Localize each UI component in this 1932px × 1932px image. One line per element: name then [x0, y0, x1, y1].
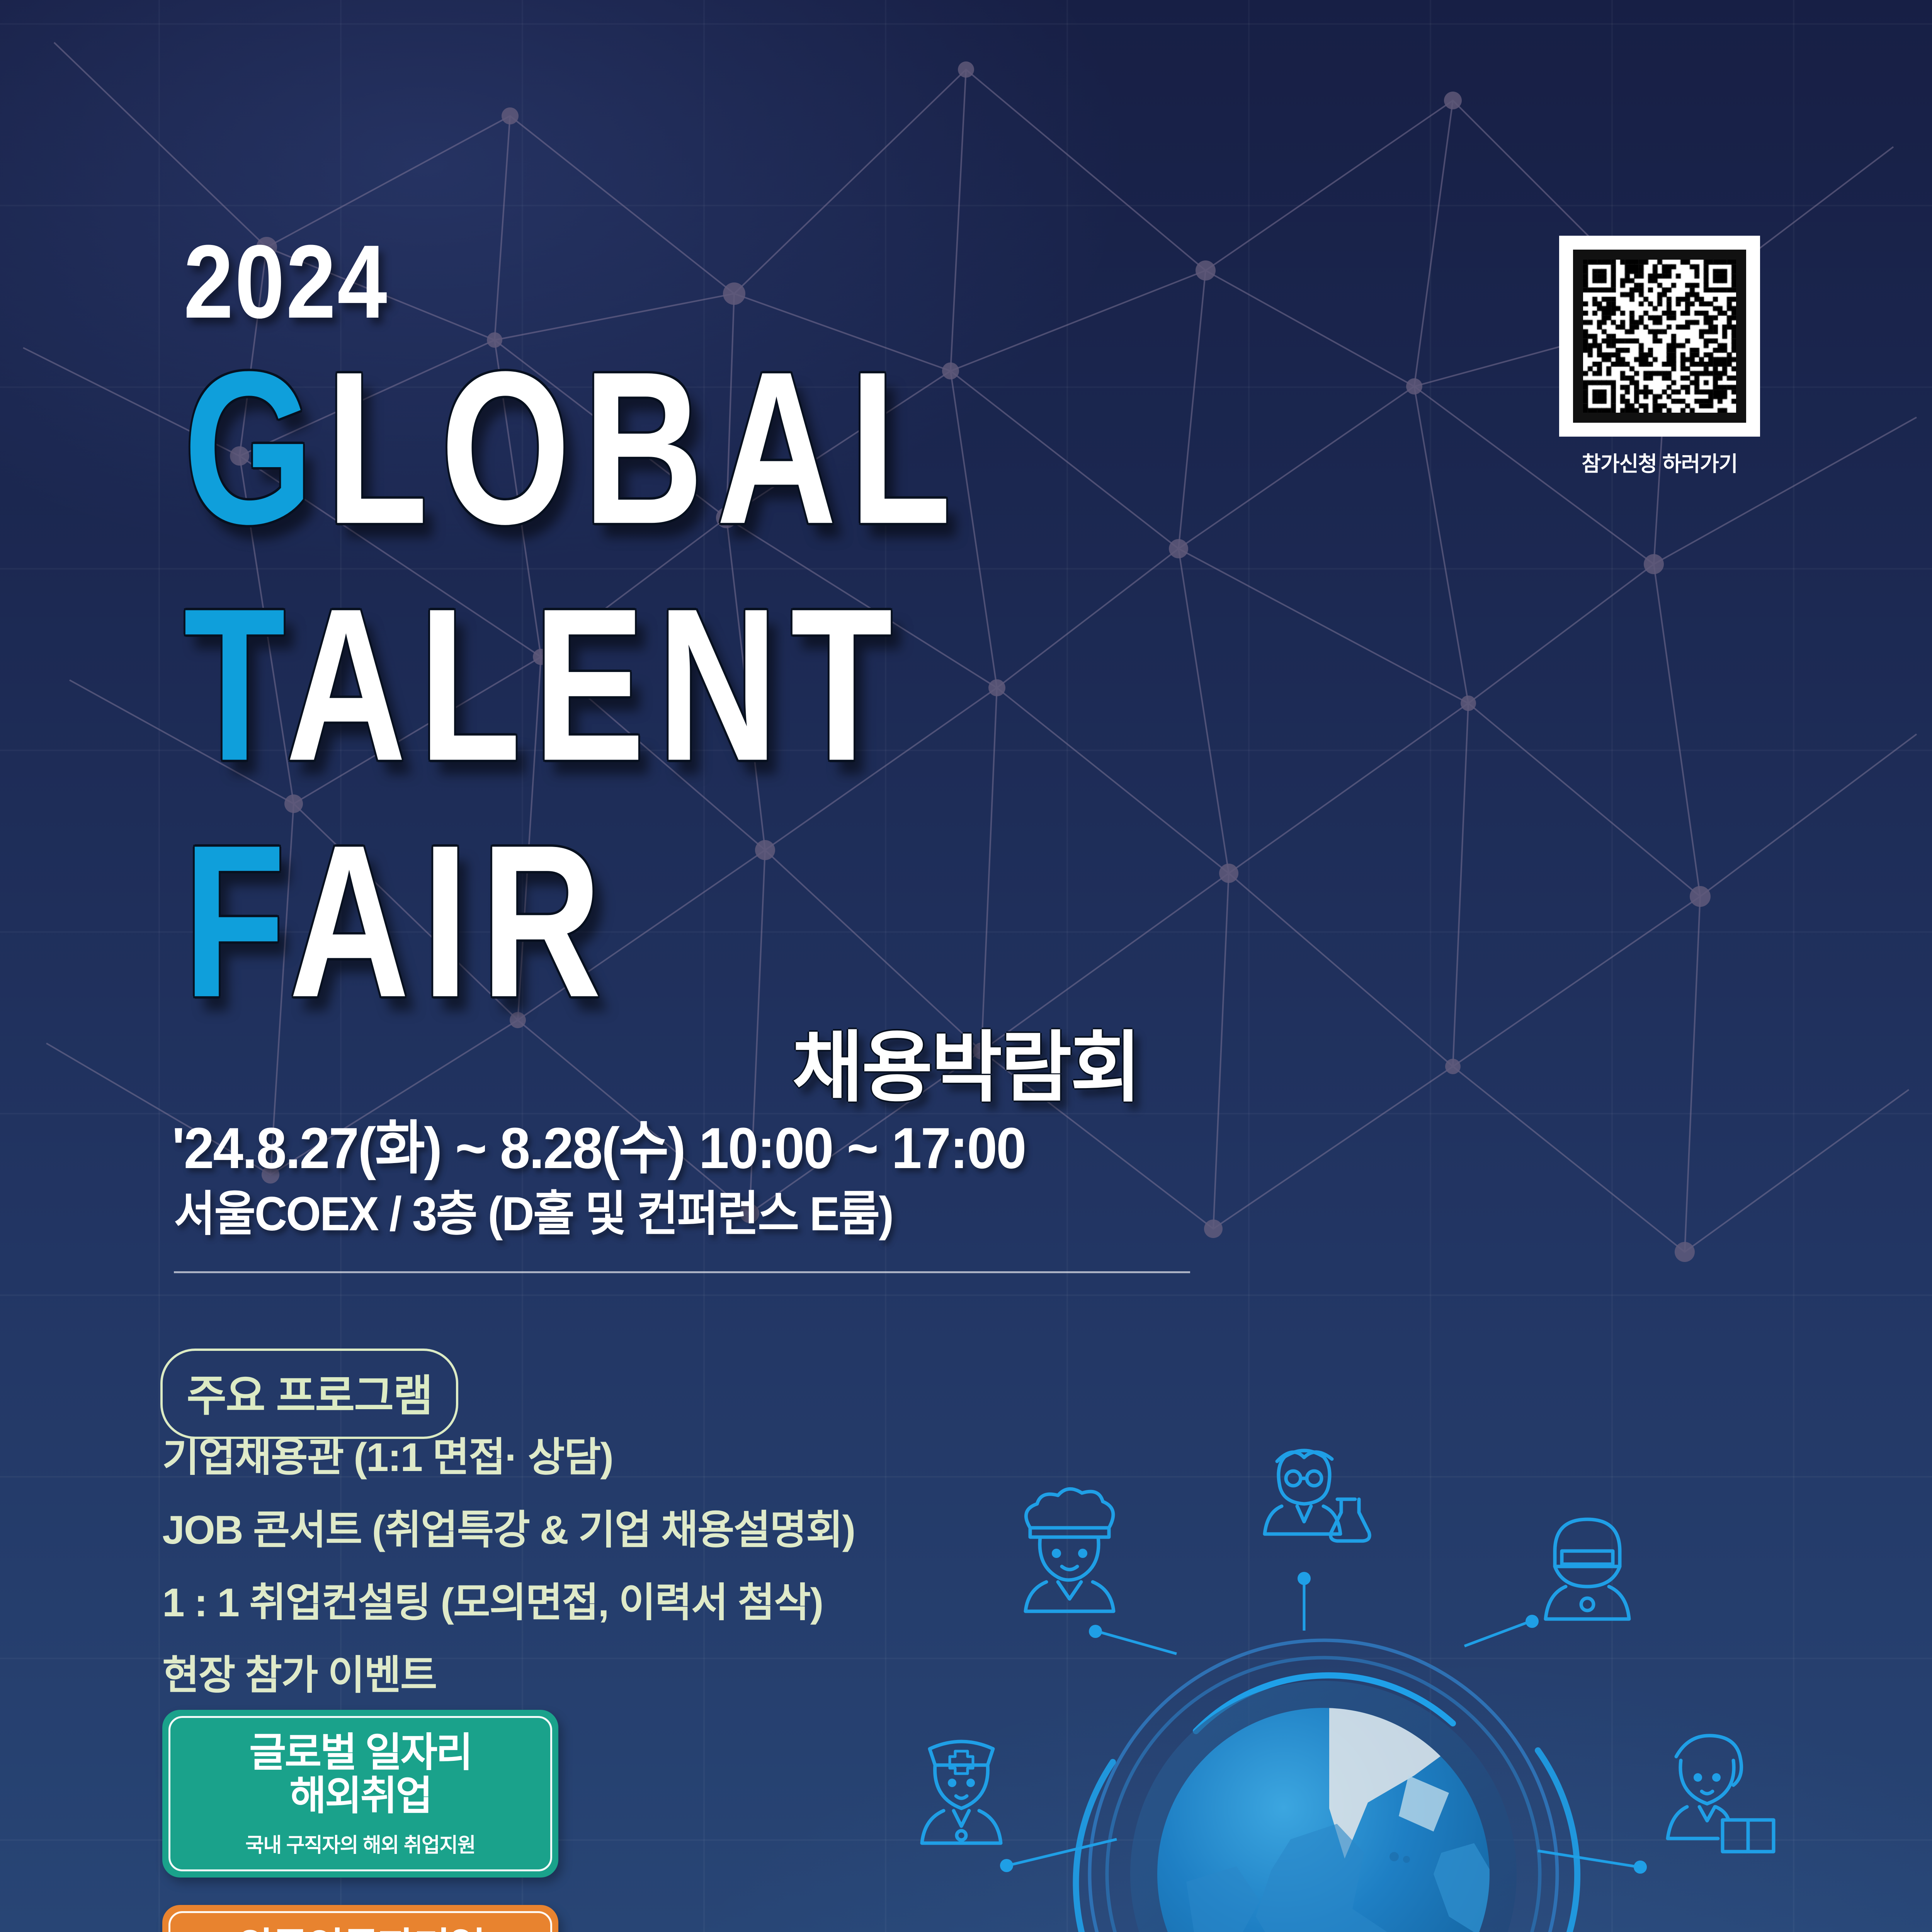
feature-box-inner: 외국인투자기업 채용 국내 외국인투자기업의 채용지원 [168, 1911, 552, 1932]
event-venue: 서울COEX / 3층 (D홀 및 컨퍼런스 E룸) [174, 1175, 893, 1244]
welder-helmet-icon [1546, 1519, 1629, 1619]
qr-quiet-zone [1573, 250, 1746, 423]
section-divider [174, 1271, 1190, 1273]
event-datetime: '24.8.27(화) ~ 8.28(수) 10:00 ~ 17:00 [172, 1101, 1026, 1185]
feature-box-overseas-jobs: 글로벌 일자리 해외취업 국내 구직자의 해외 취업지원 [162, 1710, 558, 1878]
title-line-fair: FAIR [184, 816, 1408, 1027]
poster-year: 2024 [184, 232, 1280, 332]
title-accent-t: T [184, 563, 286, 806]
poster-root: 참가신청 하러가기 2024 GLOBAL TALENT FAIR 채용박람회 … [0, 0, 1932, 1932]
feature-title-line2: 해외취업 [178, 1774, 543, 1818]
title-rest-global: LOBAL [326, 327, 964, 570]
title-line-global: GLOBAL [184, 343, 1408, 554]
scientist-icon [1265, 1451, 1369, 1541]
korean-subtitle: 채용박람회 [792, 1005, 1140, 1117]
program-badge: 주요 프로그램 [160, 1349, 458, 1439]
feature-box-inner: 글로벌 일자리 해외취업 국내 구직자의 해외 취업지원 [168, 1716, 552, 1871]
feature-title-line1: 외국인투자기업 [178, 1926, 543, 1932]
feature-subtitle: 국내 구직자의 해외 취업지원 [178, 1829, 543, 1858]
teacher-reading-icon [1668, 1736, 1774, 1852]
globe-illustration [846, 1383, 1889, 1932]
feature-box-foreign-invested: 외국인투자기업 채용 국내 외국인투자기업의 채용지원 [162, 1905, 558, 1932]
qr-card[interactable] [1559, 236, 1760, 437]
feature-title: 글로벌 일자리 해외취업 [178, 1731, 543, 1818]
qr-label: 참가신청 하러가기 [1551, 447, 1768, 477]
qr-code-image[interactable] [1583, 260, 1736, 413]
chef-icon [1026, 1489, 1114, 1611]
qr-block[interactable]: 참가신청 하러가기 [1551, 236, 1768, 477]
feature-title: 외국인투자기업 채용 [178, 1926, 543, 1932]
title-rest-fair: AIR [289, 800, 614, 1043]
feature-title-line1: 글로벌 일자리 [178, 1731, 543, 1774]
title-accent-f: F [184, 800, 289, 1043]
globe-illustration-svg [846, 1383, 1889, 1932]
title-block: 2024 GLOBAL TALENT FAIR [184, 232, 1459, 985]
title-line-talent: TALENT [184, 580, 1408, 791]
title-rest-talent: ALENT [286, 563, 905, 806]
nurse-icon [922, 1742, 1001, 1843]
title-accent-g: G [184, 327, 326, 570]
